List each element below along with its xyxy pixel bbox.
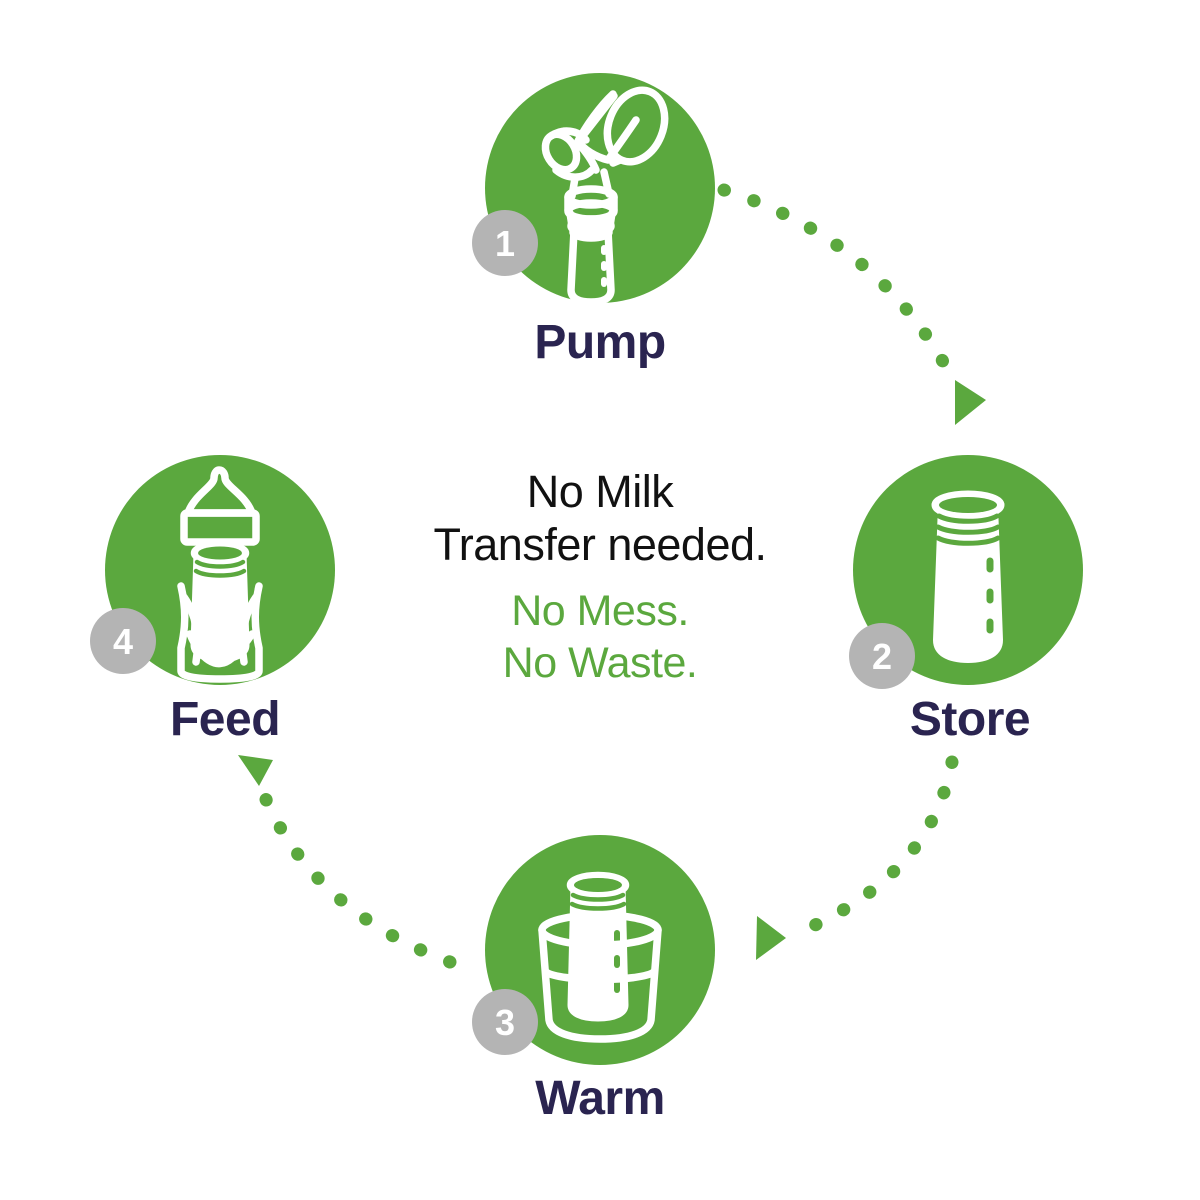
step-badge-1: 1	[472, 210, 538, 276]
infographic-canvas: 1 2	[0, 0, 1200, 1200]
step-badge-4-number: 4	[113, 621, 133, 662]
center-message-line-4: No Waste.	[330, 637, 870, 689]
center-message-line-2: Transfer needed.	[330, 518, 870, 571]
center-message-line-1: No Milk	[330, 465, 870, 518]
step-badge-3: 3	[472, 989, 538, 1055]
step-label-feed: Feed	[135, 692, 315, 747]
arrow-warm-to-feed	[238, 755, 450, 962]
center-message-line-3: No Mess.	[330, 585, 870, 637]
step-label-warm: Warm	[500, 1071, 700, 1126]
step-badge-4: 4	[90, 608, 156, 674]
step-circle-warm[interactable]: 3	[472, 835, 715, 1065]
step-label-store: Store	[880, 692, 1060, 747]
arrow-pump-to-store	[724, 190, 986, 425]
arrow-store-to-warm	[756, 762, 952, 960]
center-message-spacer	[330, 571, 870, 585]
step-label-pump: Pump	[500, 315, 700, 370]
step-circle-pump[interactable]: 1	[472, 73, 715, 303]
step-badge-1-number: 1	[495, 223, 515, 264]
step-circle-store[interactable]: 2	[849, 455, 1083, 689]
step-badge-3-number: 3	[495, 1002, 515, 1043]
step-circle-feed[interactable]: 4	[90, 455, 335, 685]
step-badge-2-number: 2	[872, 636, 892, 677]
storage-bottle-icon	[935, 494, 1001, 660]
center-message: No Milk Transfer needed. No Mess. No Was…	[330, 465, 870, 689]
